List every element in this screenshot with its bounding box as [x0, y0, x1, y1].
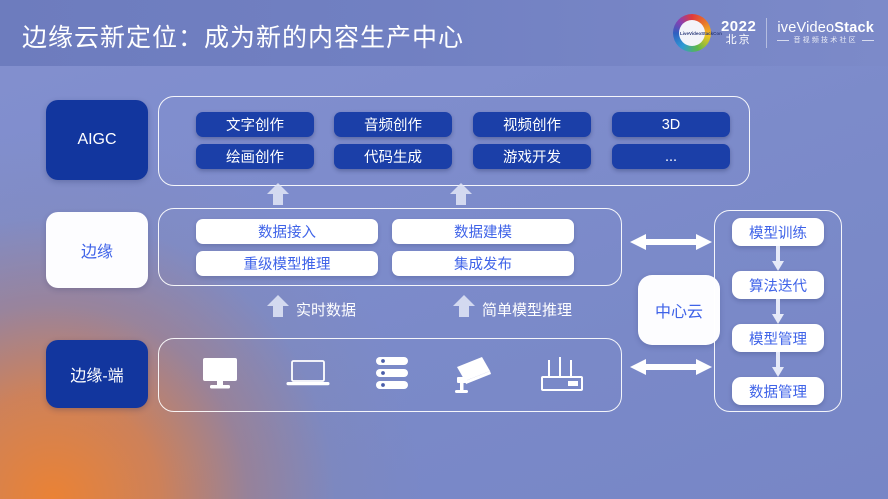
row-label-edge[interactable]: 边缘	[46, 212, 148, 288]
tile-aigc-7[interactable]: ...	[612, 144, 730, 169]
page-title: 边缘云新定位：成为新的内容生产中心	[22, 18, 464, 54]
livevideostackcon-badge-icon: LiveVideoStackCon	[673, 14, 711, 52]
flow-step-2[interactable]: 模型管理	[732, 324, 824, 352]
row-label-terminal[interactable]: 边缘-端	[46, 340, 148, 408]
slide-canvas: 边缘云新定位：成为新的内容生产中心 LiveVideoStackCon 2022…	[0, 0, 888, 499]
logo-divider	[766, 18, 767, 48]
arrow-down-flow-0-icon	[771, 246, 785, 272]
laptop-icon	[285, 358, 331, 390]
tile-aigc-3[interactable]: 3D	[612, 112, 730, 137]
cctv-camera-icon	[452, 355, 496, 393]
tile-aigc-1[interactable]: 音频创作	[334, 112, 452, 137]
tile-edge-0[interactable]: 数据接入	[196, 219, 378, 244]
wordmark-subtitle: 音视频技术社区	[777, 37, 873, 45]
tile-aigc-0[interactable]: 文字创作	[196, 112, 314, 137]
tile-edge-0-label: 数据接入	[258, 221, 316, 242]
monitor-icon	[200, 356, 240, 392]
arrow-up-aigc-right-icon	[449, 182, 473, 206]
row-label-aigc-text: AIGC	[77, 131, 116, 149]
center-cloud-label: 中心云	[655, 298, 703, 322]
double-arrow-terminal-to-cloud-icon	[630, 357, 712, 377]
row-label-terminal-text: 边缘-端	[70, 362, 123, 386]
tile-edge-1-label: 数据建模	[454, 221, 512, 242]
connector-label-realtime-data: 实时数据	[296, 299, 356, 320]
wordmark-part1: iveVideo	[777, 20, 834, 36]
tile-aigc-2[interactable]: 视频创作	[473, 112, 591, 137]
router-icon	[538, 355, 586, 393]
arrow-up-realtime-data-icon	[266, 294, 290, 318]
arrow-up-simple-inference-icon	[452, 294, 476, 318]
event-city: 北京	[726, 35, 752, 47]
wordmark-subtitle-text: 音视频技术社区	[793, 37, 857, 45]
livevideostack-wordmark: iveVideoStack 音视频技术社区	[777, 21, 874, 45]
tile-aigc-6-label: 游戏开发	[503, 146, 561, 167]
connector-label-simple-inference: 简单模型推理	[482, 299, 572, 320]
tile-edge-2-label: 重级模型推理	[244, 253, 331, 274]
slide-header: 边缘云新定位：成为新的内容生产中心 LiveVideoStackCon 2022…	[0, 0, 888, 66]
tile-edge-2[interactable]: 重级模型推理	[196, 251, 378, 276]
flow-step-1-label: 算法迭代	[749, 275, 807, 296]
tile-aigc-0-label: 文字创作	[226, 114, 284, 135]
tile-edge-1[interactable]: 数据建模	[392, 219, 574, 244]
tile-aigc-4-label: 绘画创作	[226, 146, 284, 167]
tile-aigc-7-label: ...	[665, 149, 677, 165]
wordmark-line: iveVideoStack	[777, 21, 874, 37]
flow-step-2-label: 模型管理	[749, 328, 807, 349]
tile-aigc-1-label: 音频创作	[364, 114, 422, 135]
tile-edge-3[interactable]: 集成发布	[392, 251, 574, 276]
event-year: 2022	[721, 19, 756, 35]
row-label-edge-text: 边缘	[81, 238, 113, 262]
tile-aigc-3-label: 3D	[662, 117, 681, 133]
flow-step-0[interactable]: 模型训练	[732, 218, 824, 246]
tile-aigc-2-label: 视频创作	[503, 114, 561, 135]
server-icon	[372, 355, 412, 393]
arrow-up-aigc-left-icon	[266, 182, 290, 206]
tile-edge-3-label: 集成发布	[454, 253, 512, 274]
badge-label: LiveVideoStackCon	[680, 31, 704, 36]
event-year-city: 2022 北京	[721, 19, 756, 46]
brand-logo-group: LiveVideoStackCon 2022 北京 iveVideoStack …	[673, 14, 874, 52]
flow-step-0-label: 模型训练	[749, 222, 807, 243]
flow-step-1[interactable]: 算法迭代	[732, 271, 824, 299]
arrow-down-flow-1-icon	[771, 299, 785, 325]
tile-aigc-6[interactable]: 游戏开发	[473, 144, 591, 169]
flow-step-3[interactable]: 数据管理	[732, 377, 824, 405]
row-label-aigc[interactable]: AIGC	[46, 100, 148, 180]
aigc-group-container	[158, 96, 750, 186]
tile-aigc-5[interactable]: 代码生成	[334, 144, 452, 169]
flow-step-3-label: 数据管理	[749, 381, 807, 402]
tile-aigc-4[interactable]: 绘画创作	[196, 144, 314, 169]
tile-aigc-5-label: 代码生成	[364, 146, 422, 167]
wordmark-part2: Stack	[834, 20, 874, 36]
double-arrow-edge-to-cloud-icon	[630, 232, 712, 252]
arrow-down-flow-2-icon	[771, 352, 785, 378]
center-cloud-box[interactable]: 中心云	[638, 275, 720, 345]
